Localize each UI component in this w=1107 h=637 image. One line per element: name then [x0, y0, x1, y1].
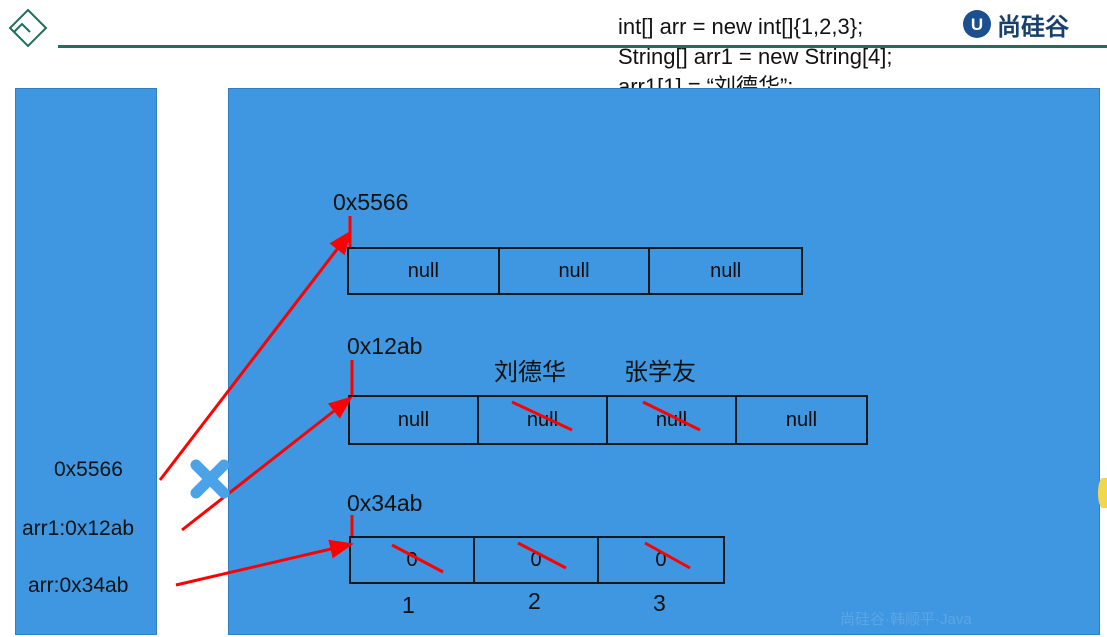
heap-address-0x12ab: 0x12ab	[347, 333, 422, 360]
array-0x5566: null null null	[347, 247, 803, 295]
array-0x34ab: 0 0 0	[349, 536, 725, 584]
array-cell: null	[737, 397, 866, 443]
stack-entry-arr1: arr1:0x12ab	[22, 517, 134, 541]
array-0x12ab: null null null null	[348, 395, 868, 445]
edge-marker	[1098, 478, 1107, 508]
code-line-1: int[] arr = new int[]{1,2,3};	[618, 12, 1088, 42]
code-line-2: String[] arr1 = new String[4];	[618, 42, 1088, 72]
stack-panel	[15, 88, 157, 635]
array-cell: null	[650, 249, 801, 293]
array-cell: null	[479, 397, 608, 443]
array-cell: 0	[351, 538, 475, 582]
watermark-text: 尚硅谷·韩顺平·Java	[840, 608, 972, 629]
index-label-1: 1	[402, 592, 415, 619]
array-cell: 0	[599, 538, 723, 582]
index-label-3: 3	[653, 590, 666, 617]
array-cell: null	[608, 397, 737, 443]
index-label-2: 2	[528, 588, 541, 615]
stack-entry-arr: arr:0x34ab	[28, 574, 128, 598]
array-cell: null	[500, 249, 651, 293]
value-label-zhangxueyou: 张学友	[624, 352, 696, 387]
heap-address-0x34ab: 0x34ab	[347, 490, 422, 517]
array-cell: null	[349, 249, 500, 293]
diamond-icon	[8, 8, 48, 48]
array-cell: 0	[475, 538, 599, 582]
heap-address-0x5566: 0x5566	[333, 189, 408, 216]
cross-out-x-icon	[196, 465, 224, 493]
slide-canvas: U 尚硅谷 int[] arr = new int[]{1,2,3}; Stri…	[0, 0, 1107, 637]
array-cell: null	[350, 397, 479, 443]
stack-entry-0x5566: 0x5566	[54, 458, 123, 482]
value-label-liudehua: 刘德华	[494, 352, 566, 387]
